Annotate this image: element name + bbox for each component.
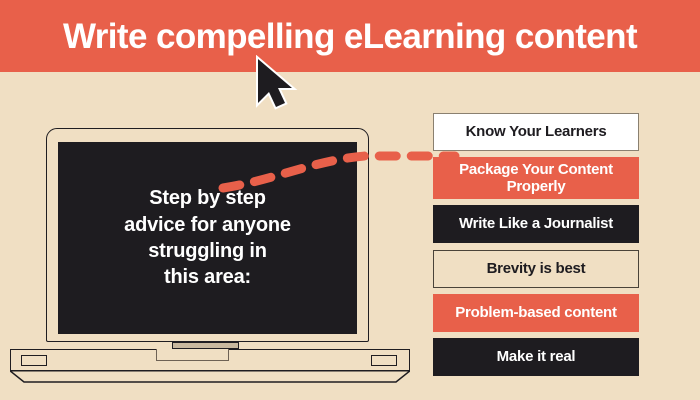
laptop-trackpad xyxy=(156,349,229,361)
laptop-hinge-notch xyxy=(172,342,239,349)
screen-message-line-1: Step by step xyxy=(149,185,266,211)
tip-label: Problem-based content xyxy=(455,304,616,321)
tip-item-package-your-content-properly[interactable]: Package Your Content Properly xyxy=(433,157,639,199)
mouse-pointer-icon xyxy=(252,55,312,111)
laptop-port-left xyxy=(21,355,47,366)
laptop-port-right xyxy=(371,355,397,366)
infographic-poster: Write compelling eLearning content Step … xyxy=(0,0,700,400)
page-title: Write compelling eLearning content xyxy=(0,0,700,72)
tip-label: Package Your Content Properly xyxy=(434,161,638,195)
tip-item-brevity-is-best[interactable]: Brevity is best xyxy=(433,250,639,288)
tip-label: Know Your Learners xyxy=(466,123,607,140)
tip-label: Brevity is best xyxy=(487,260,586,277)
screen-message-line-3: struggling in xyxy=(148,238,267,264)
tip-item-write-like-a-journalist[interactable]: Write Like a Journalist xyxy=(433,205,639,243)
screen-message: Step by step advice for anyone strugglin… xyxy=(58,142,357,334)
tip-item-problem-based-content[interactable]: Problem-based content xyxy=(433,294,639,332)
screen-message-line-2: advice for anyone xyxy=(124,212,291,238)
tip-item-know-your-learners[interactable]: Know Your Learners xyxy=(433,113,639,151)
tip-label: Write Like a Journalist xyxy=(459,215,613,232)
laptop-illustration: Step by step advice for anyone strugglin… xyxy=(10,128,410,380)
laptop-screen: Step by step advice for anyone strugglin… xyxy=(58,142,357,334)
screen-message-line-4: this area: xyxy=(164,264,251,290)
tip-label: Make it real xyxy=(497,348,576,365)
laptop-foot xyxy=(10,370,410,383)
tip-item-make-it-real[interactable]: Make it real xyxy=(433,338,639,376)
